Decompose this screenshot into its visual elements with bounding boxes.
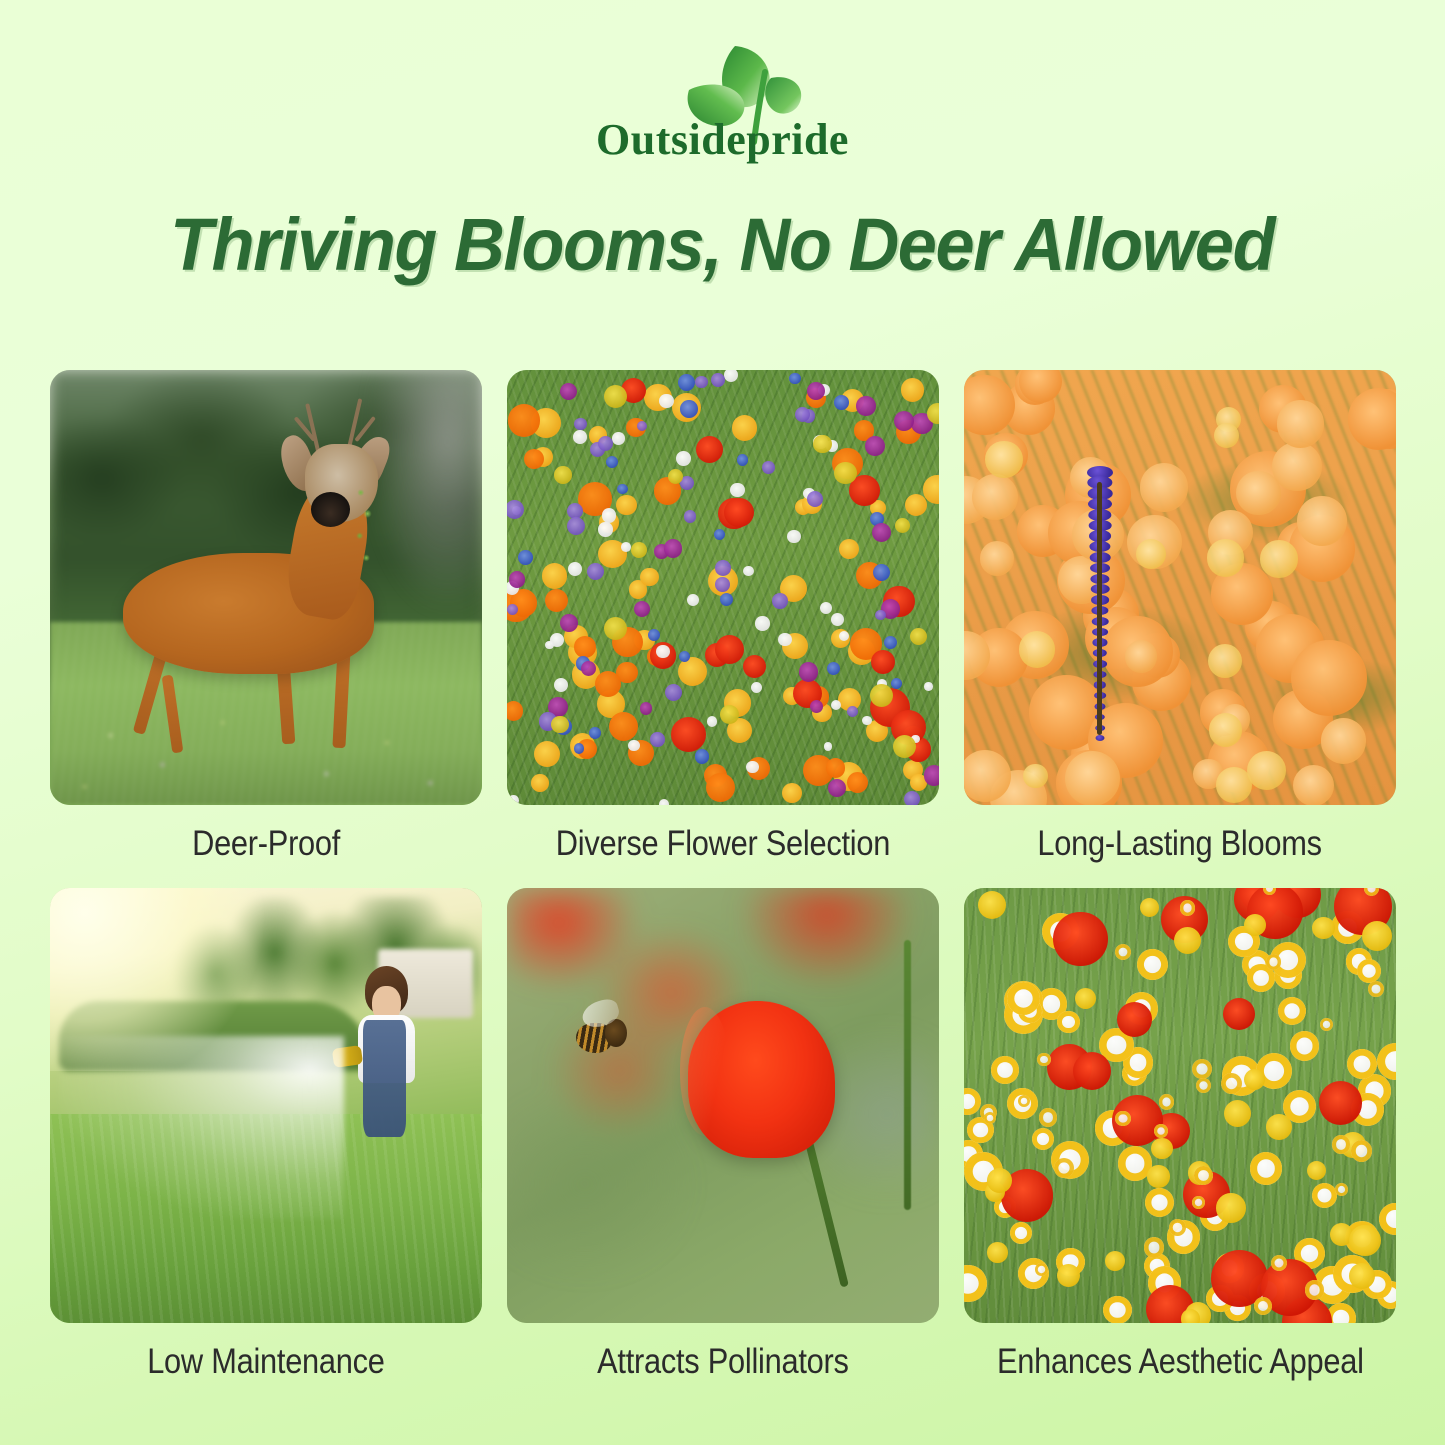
- feature-caption: Enhances Aesthetic Appeal: [997, 1342, 1364, 1382]
- feature-caption: Diverse Flower Selection: [556, 824, 890, 864]
- brand-name: Outsidepride: [463, 118, 983, 162]
- bee-poppy-photo: [507, 888, 939, 1323]
- deer-photo: [50, 370, 482, 805]
- feature-card-diverse-flower-selection[interactable]: Diverse Flower Selection: [507, 370, 939, 864]
- wildflower-meadow-photo: [507, 370, 939, 805]
- daisy-poppy-meadow-photo: [964, 888, 1396, 1323]
- feature-card-attracts-pollinators[interactable]: Attracts Pollinators: [507, 888, 939, 1382]
- brand-logo[interactable]: Outsidepride: [623, 38, 823, 156]
- feature-caption: Deer-Proof: [192, 824, 340, 864]
- feature-card-low-maintenance[interactable]: Low Maintenance: [50, 888, 482, 1382]
- page-title: Thriving Blooms, No Deer Allowed: [170, 202, 1274, 287]
- header: Outsidepride Thriving Blooms, No Deer Al…: [0, 0, 1445, 287]
- feature-caption: Low Maintenance: [147, 1342, 384, 1382]
- feature-card-enhances-aesthetic-appeal[interactable]: Enhances Aesthetic Appeal: [964, 888, 1396, 1382]
- feature-caption: Attracts Pollinators: [597, 1342, 848, 1382]
- feature-caption: Long-Lasting Blooms: [1038, 824, 1322, 864]
- watering-garden-photo: [50, 888, 482, 1323]
- poppy-lupine-photo: [964, 370, 1396, 805]
- feature-grid: Deer-Proof Diverse Flower Selection Long…: [50, 370, 1398, 1382]
- feature-card-long-lasting-blooms[interactable]: Long-Lasting Blooms: [964, 370, 1396, 864]
- feature-card-deer-proof[interactable]: Deer-Proof: [50, 370, 482, 864]
- bee-icon: [576, 1010, 636, 1058]
